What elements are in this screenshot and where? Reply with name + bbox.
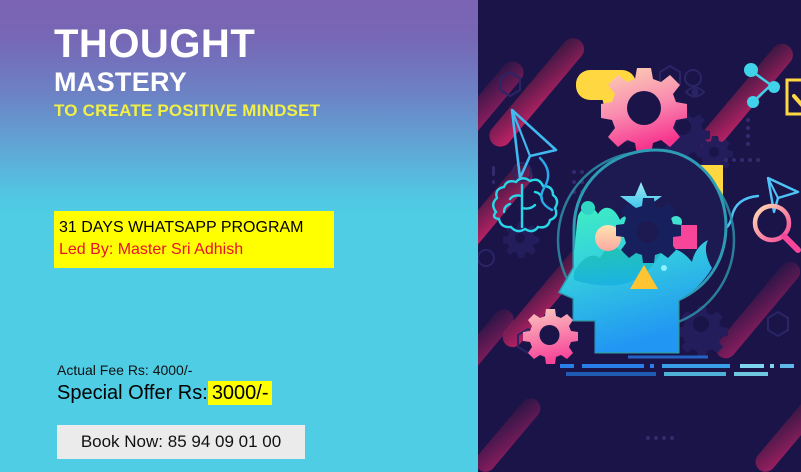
book-now-label: Book Now: 85 94 09 01 00	[81, 432, 281, 452]
special-offer-value: 3000/-	[208, 381, 272, 405]
gear-pink-large-icon	[601, 68, 687, 154]
tagline: TO CREATE POSITIVE MINDSET	[54, 102, 454, 121]
actual-fee-text: Actual Fee Rs: 4000/-	[57, 361, 272, 379]
program-highlight-box: 31 DAYS WHATSAPP PROGRAM Led By: Master …	[54, 211, 334, 268]
promotional-banner: THOUGHT MASTERY TO CREATE POSITIVE MINDS…	[0, 0, 801, 472]
program-name: 31 DAYS WHATSAPP PROGRAM	[59, 217, 334, 239]
book-now-button[interactable]: Book Now: 85 94 09 01 00	[57, 425, 305, 459]
left-content-panel: THOUGHT MASTERY TO CREATE POSITIVE MINDS…	[0, 0, 478, 472]
pricing-block: Actual Fee Rs: 4000/- Special Offer Rs:3…	[57, 361, 272, 407]
thought-illustration	[478, 0, 801, 472]
page-subtitle: MASTERY	[54, 67, 454, 97]
program-instructor: Led By: Master Sri Adhish	[59, 239, 334, 261]
page-title: THOUGHT	[54, 24, 454, 64]
special-offer-row: Special Offer Rs:3000/-	[57, 380, 272, 407]
headline-block: THOUGHT MASTERY TO CREATE POSITIVE MINDS…	[54, 24, 454, 121]
gear-dark-icon	[616, 198, 681, 263]
gear-pink-icon	[523, 309, 578, 364]
special-offer-label: Special Offer Rs:	[57, 382, 208, 404]
illustration-panel	[478, 0, 801, 472]
